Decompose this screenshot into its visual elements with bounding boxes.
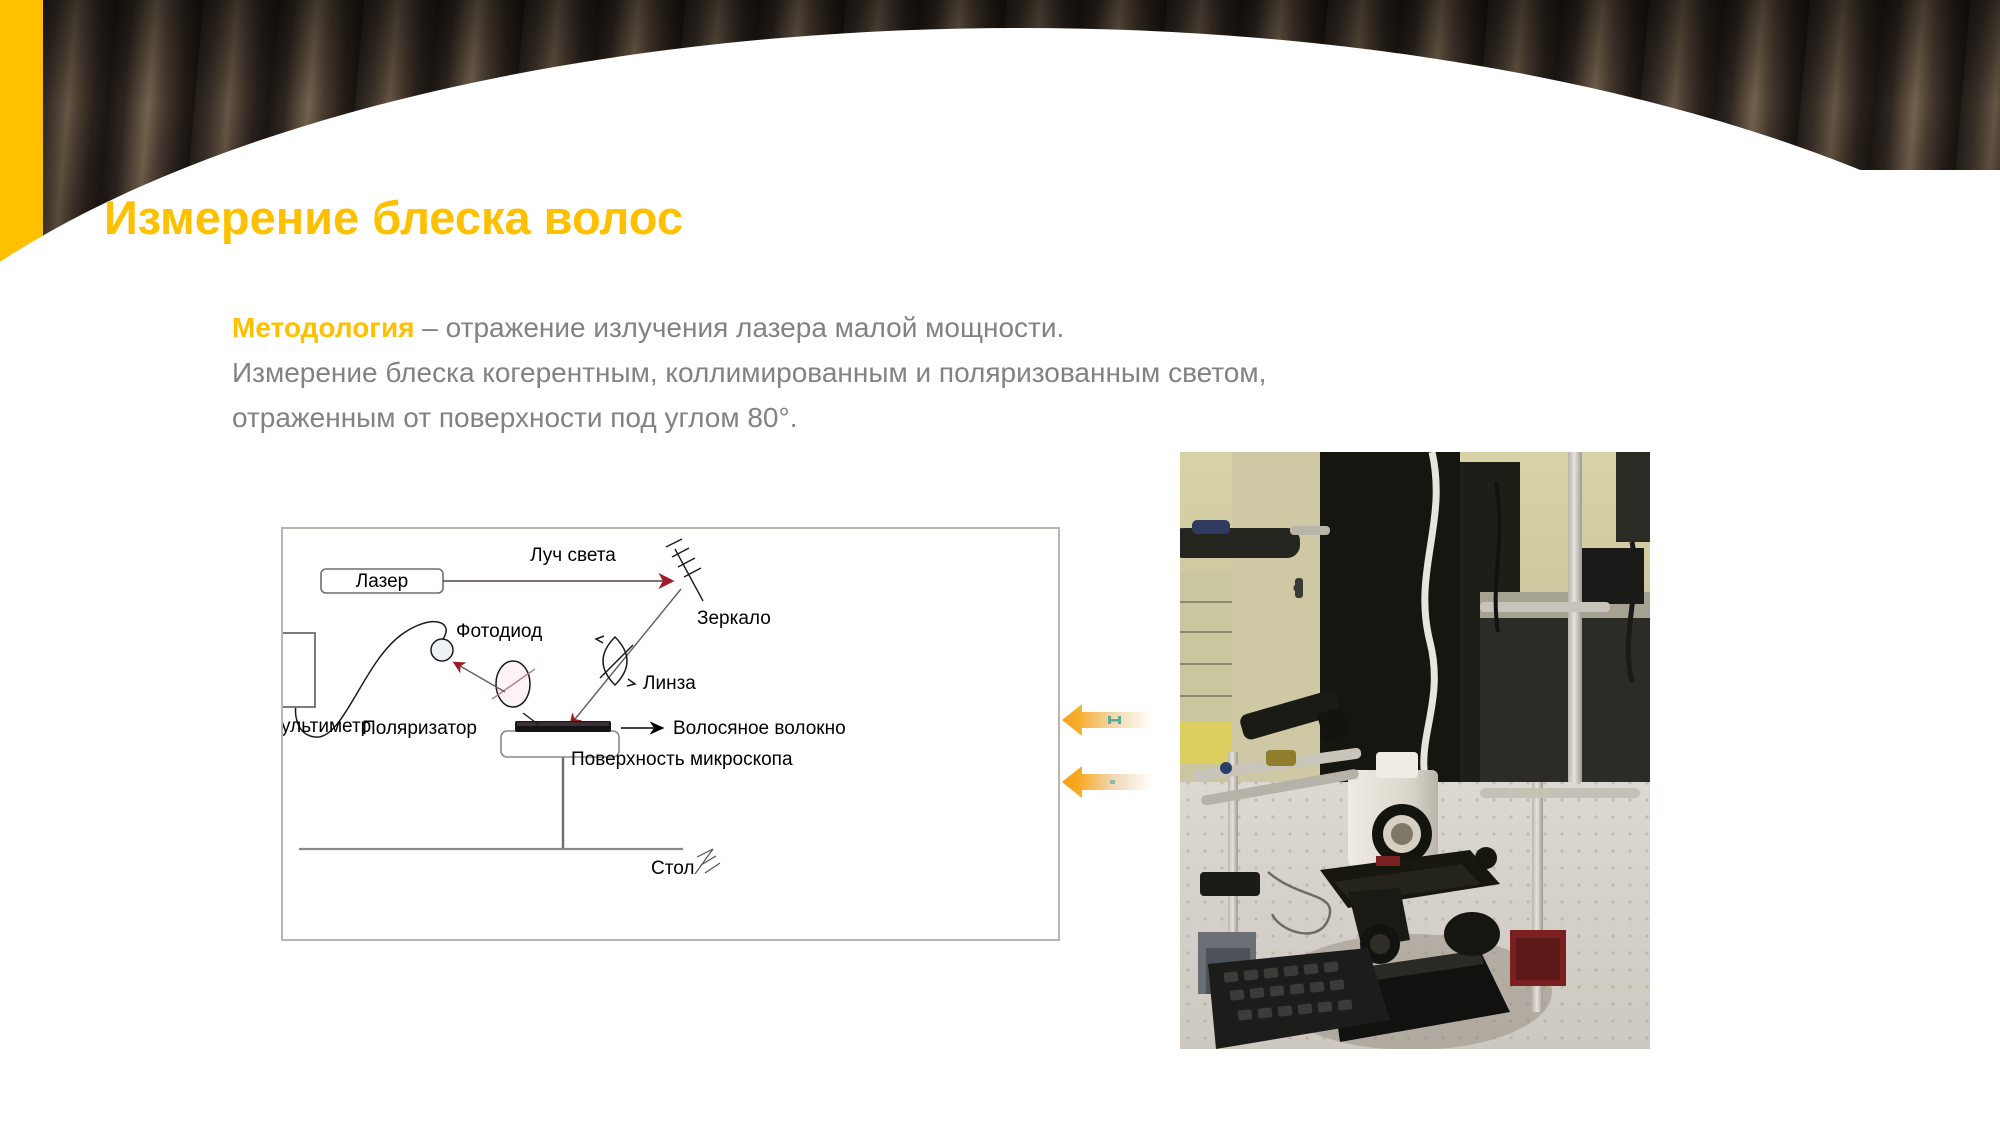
methodology-label: Методология: [232, 312, 415, 343]
slide-root: Измерение блеска волос Методология – отр…: [0, 0, 2000, 1125]
label-lens: Линза: [643, 673, 696, 694]
label-photodiode: Фотодиод: [456, 621, 542, 642]
label-multimeter: Мультиметр: [283, 716, 371, 737]
polarizer-symbol: [492, 661, 535, 707]
methodology-line2: Измерение блеска когерентным, коллимиров…: [232, 357, 1266, 388]
label-microscope-surface: Поверхность микроскопа: [571, 749, 793, 770]
photodiode-symbol: [431, 639, 453, 661]
mirror-symbol: [666, 539, 703, 601]
orange-arrow-bottom: [1062, 762, 1152, 802]
lens-symbol: [596, 636, 635, 686]
laboratory-setup-photo: [1180, 452, 1650, 1049]
methodology-line3: отраженным от поверхности под углом 80°.: [232, 402, 797, 433]
multimeter-box: [283, 633, 315, 707]
methodology-lead-rest: – отражение излучения лазера малой мощно…: [415, 312, 1065, 343]
teal-marker: [1110, 780, 1115, 784]
methodology-paragraph: Методология – отражение излучения лазера…: [232, 305, 1292, 440]
label-hair-fiber: Волосяное волокно: [673, 718, 846, 739]
label-polarizer: Поляризатор: [362, 718, 477, 739]
label-table: Стол: [651, 858, 694, 879]
label-light-beam: Луч света: [530, 545, 616, 566]
page-title: Измерение блеска волос: [104, 190, 683, 245]
label-laser: Лазер: [356, 571, 408, 592]
optical-setup-diagram: Лазер Луч света Зеркало Лин: [281, 527, 1060, 941]
label-mirror: Зеркало: [697, 608, 771, 629]
table-hatch-symbol: [695, 849, 720, 874]
orange-arrow-top: [1062, 700, 1152, 740]
